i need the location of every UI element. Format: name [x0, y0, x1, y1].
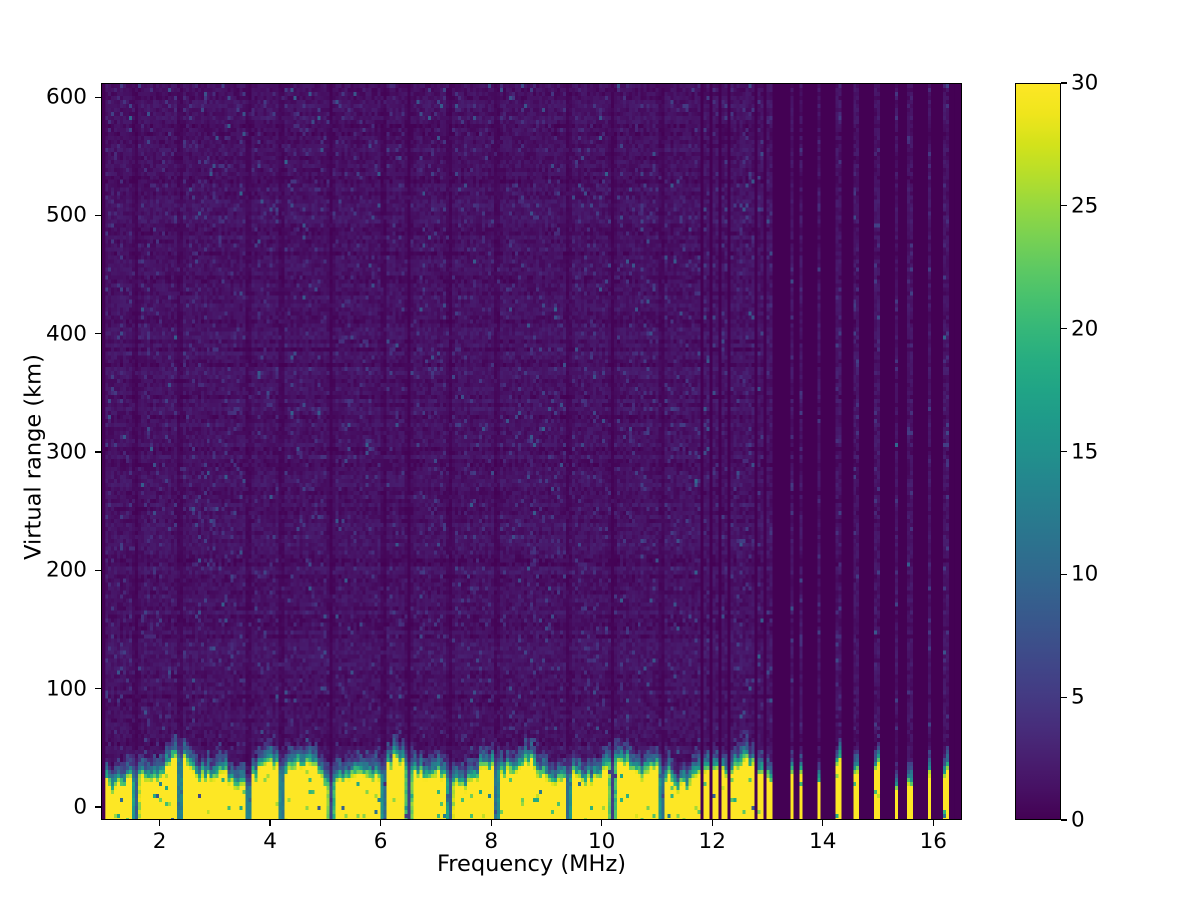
colorbar-tick-mark	[1061, 328, 1067, 329]
colorbar-tick-label: 25	[1071, 193, 1098, 218]
colorbar-tick-label: 5	[1071, 685, 1085, 710]
x-tick-mark	[933, 820, 934, 826]
colorbar-tick-label: 0	[1071, 808, 1085, 833]
y-tick-mark	[95, 688, 101, 689]
plot-axes	[101, 83, 962, 820]
colorbar-tick-mark	[1061, 451, 1067, 452]
x-tick-mark	[712, 820, 713, 826]
colorbar-tick-label: 15	[1071, 439, 1098, 464]
x-tick-mark	[491, 820, 492, 826]
y-tick-mark	[95, 451, 101, 452]
colorbar-tick-mark	[1061, 697, 1067, 698]
colorbar-tick-mark	[1061, 819, 1067, 820]
colorbar-tick-label: 20	[1071, 316, 1098, 341]
colorbar-gradient	[1016, 84, 1060, 819]
x-tick-mark	[269, 820, 270, 826]
colorbar-tick-mark	[1061, 205, 1067, 206]
x-tick-mark	[159, 820, 160, 826]
colorbar-tick-mark	[1061, 574, 1067, 575]
x-tick-mark	[601, 820, 602, 826]
x-tick-mark	[822, 820, 823, 826]
y-tick-mark	[95, 570, 101, 571]
x-axis-label: Frequency (MHz)	[101, 851, 962, 877]
colorbar-tick-label: 30	[1071, 71, 1098, 96]
colorbar-tick-label: 10	[1071, 562, 1098, 587]
y-tick-mark	[95, 333, 101, 334]
ionogram-heatmap	[102, 84, 961, 819]
x-tick-mark	[380, 820, 381, 826]
ionogram-figure: IRF Kiruna Ionosonde KI167 2025-09-19 01…	[0, 0, 1200, 900]
y-axis-label: Virtual range (km)	[21, 89, 47, 826]
y-tick-mark	[95, 97, 101, 98]
colorbar-tick-mark	[1061, 82, 1067, 83]
y-tick-mark	[95, 215, 101, 216]
colorbar	[1015, 83, 1061, 820]
y-tick-mark	[95, 806, 101, 807]
